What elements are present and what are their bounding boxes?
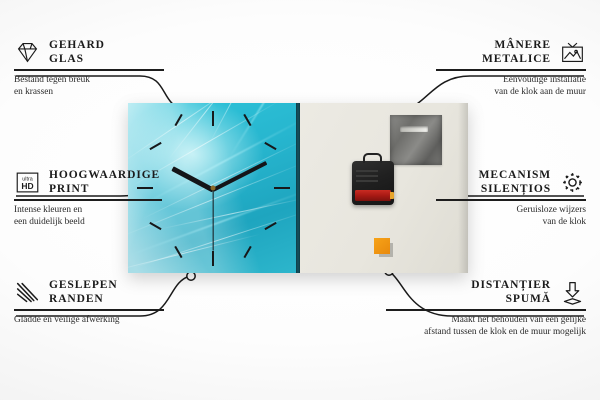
down-arrow-layers-icon	[559, 280, 586, 305]
feature-desc: Eenvoudige installatie van de klok aan d…	[436, 74, 586, 98]
feature-mecanism-silentios: MECANISM SILENȚIOS Geruisloze wijzers va…	[436, 168, 586, 228]
metal-hanger-loop	[363, 153, 382, 163]
feature-title: HOOGWAARDIGE PRINT	[49, 168, 160, 196]
metal-hanger-plate	[390, 115, 442, 165]
feature-desc: Intense kleuren en een duidelijk beeld	[14, 204, 162, 228]
clock-tick	[212, 251, 214, 266]
feature-title: MECANISM SILENȚIOS	[479, 168, 551, 196]
feature-geslepen-randen: GESLEPEN RANDEN Gladde en veilige afwerk…	[14, 278, 164, 326]
feature-hoogwaardige-print: ultra HD HOOGWAARDIGE PRINT Intense kleu…	[14, 168, 162, 228]
clock-second-hand	[212, 189, 213, 251]
product-photo	[128, 103, 468, 273]
feature-desc: Geruisloze wijzers van de klok	[436, 204, 586, 228]
aa-battery	[355, 190, 391, 201]
feature-title: GESLEPEN RANDEN	[49, 278, 118, 306]
infographic-canvas: GEHARD GLAS Bestand tegen breuk en krass…	[0, 0, 600, 400]
feature-title: DISTANȚIER SPUMĂ	[386, 278, 551, 306]
gear-icon	[559, 170, 586, 195]
feature-gehard-glas: GEHARD GLAS Bestand tegen breuk en krass…	[14, 38, 164, 98]
svg-text:HD: HD	[21, 181, 33, 191]
diagonal-lines-icon	[14, 280, 41, 305]
keyhole-slot	[400, 126, 428, 132]
clock-tick	[212, 111, 214, 126]
clock-tick	[243, 246, 251, 258]
clock-tick	[264, 142, 276, 150]
feature-title: GEHARD GLAS	[49, 38, 105, 66]
feature-title: MÂNERE METALICE	[482, 38, 551, 66]
picture-frame-icon	[559, 40, 586, 65]
feature-desc: Gladde en veilige afwerking	[14, 314, 164, 326]
feature-desc: Bestand tegen breuk en krassen	[14, 74, 164, 98]
quartz-mechanism-box	[352, 161, 394, 205]
feature-distantier-spuma: DISTANȚIER SPUMĂ Maakt het behouden van …	[386, 278, 586, 338]
callout-dot-geslepen-randen	[187, 272, 195, 280]
feature-manere-metalice: MÂNERE METALICE Eenvoudige installatie v…	[436, 38, 586, 98]
clock-center-hub	[211, 186, 216, 191]
clock-tick	[274, 187, 290, 189]
feature-desc: Maakt het behouden van een gelijke afsta…	[386, 314, 586, 338]
diamond-icon	[14, 40, 41, 65]
ultra-hd-icon: ultra HD	[14, 170, 41, 195]
foam-spacer	[374, 238, 390, 254]
